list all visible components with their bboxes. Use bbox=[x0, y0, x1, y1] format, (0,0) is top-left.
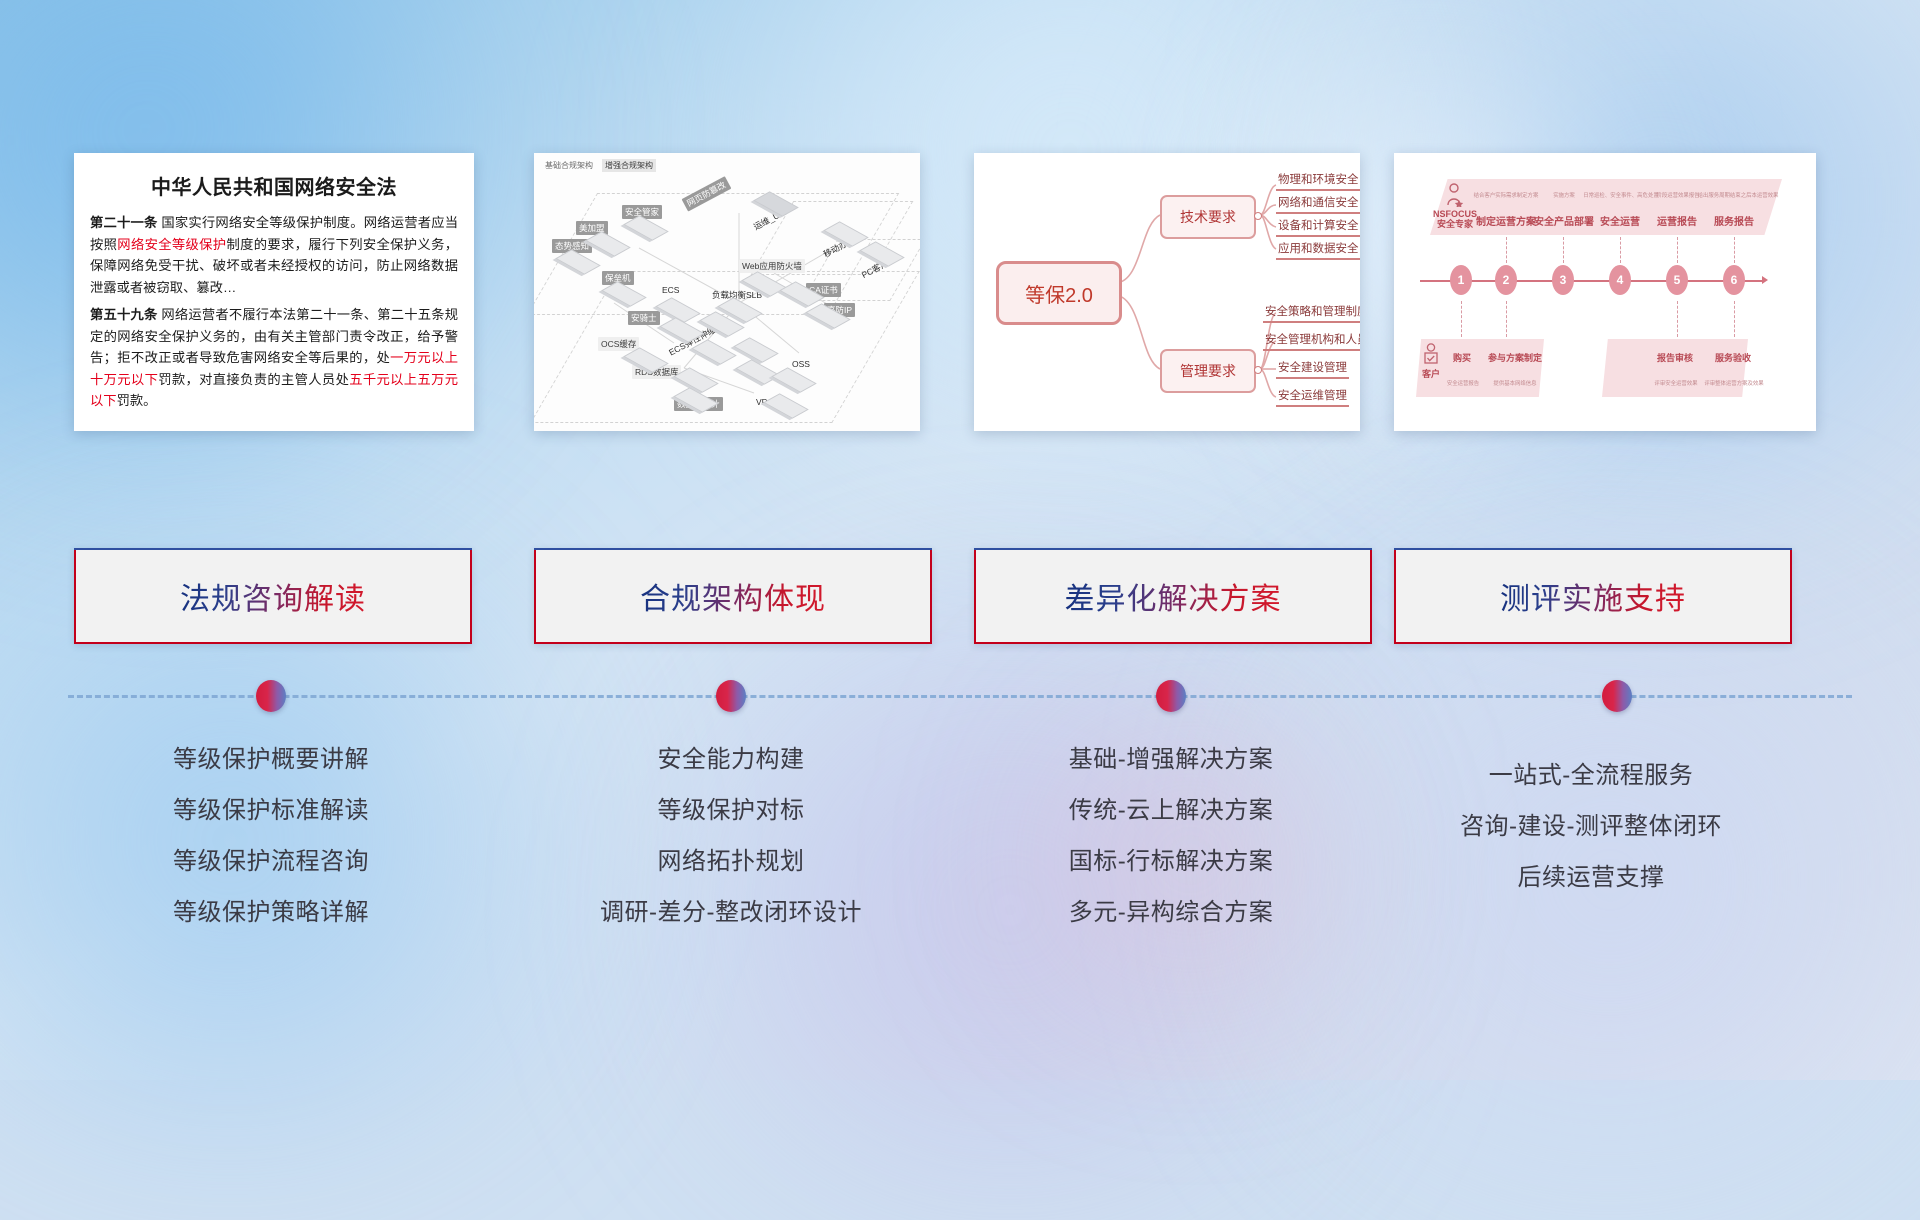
mindmap-leaf: 网络和通信安全 bbox=[1276, 194, 1360, 214]
title-box-differentiated-solution[interactable]: 差异化解决方案 bbox=[974, 548, 1372, 644]
bullet-item: 调研-差分-整改闭环设计 bbox=[534, 901, 928, 925]
timeline-dashed-line bbox=[68, 695, 1852, 698]
timeline-node[interactable]: 6 bbox=[1723, 265, 1745, 295]
bullet-item: 网络拓扑规划 bbox=[534, 850, 928, 874]
title-label: 差异化解决方案 bbox=[1065, 574, 1282, 618]
timeline-top-label: 安全产品部署 bbox=[1530, 213, 1598, 228]
timeline-top-label: 服务报告 bbox=[1706, 213, 1762, 228]
timeline-top-label: 安全运营 bbox=[1590, 213, 1650, 228]
timeline-bottom-sub: 提供基本网络信息 bbox=[1482, 379, 1548, 387]
arch-label-waf: Web应用防火墙 bbox=[739, 259, 805, 273]
law-title: 中华人民共和国网络安全法 bbox=[90, 171, 458, 200]
arch-node-icon bbox=[623, 347, 668, 372]
timeline-dot-2[interactable] bbox=[716, 680, 746, 712]
timeline-dot-4[interactable] bbox=[1602, 680, 1632, 712]
arch-node-icon bbox=[673, 367, 718, 392]
law-article-59-seg-4: 罚款。 bbox=[117, 393, 157, 408]
arch-node-icon bbox=[623, 215, 668, 240]
bullet-item: 后续运营支撑 bbox=[1394, 866, 1788, 890]
title-box-assessment-support[interactable]: 测评实施支持 bbox=[1394, 548, 1792, 644]
title-box-regulation-consulting[interactable]: 法规咨询解读 bbox=[74, 548, 472, 644]
timeline-role-expert-line1: NSFOCUS bbox=[1433, 209, 1477, 219]
card-cybersecurity-law[interactable]: 中华人民共和国网络安全法 第二十一条 国家实行网络安全等级保护制度。网络运营者应… bbox=[74, 153, 474, 431]
arch-node-icon bbox=[763, 393, 808, 418]
bullet-item: 等级保护策略详解 bbox=[74, 901, 468, 925]
timeline-bottom-sub: 安全运营报告 bbox=[1438, 379, 1488, 387]
arch-node-icon bbox=[659, 317, 704, 342]
timeline-connector bbox=[1461, 301, 1462, 337]
bullet-item: 等级保护概要讲解 bbox=[74, 748, 468, 772]
arch-node-icon bbox=[717, 297, 762, 322]
timeline-top-sub: 实施方案 bbox=[1540, 191, 1588, 199]
title-label: 法规咨询解读 bbox=[180, 574, 366, 618]
mindmap-leaf: 安全策略和管理制度 bbox=[1263, 303, 1360, 323]
title-label: 测评实施支持 bbox=[1500, 574, 1686, 618]
law-article-59: 第五十九条 网络运营者不履行本法第二十一条、第二十五条规定的网络安全保护义务的，… bbox=[90, 304, 458, 412]
customer-icon bbox=[1422, 343, 1440, 365]
timeline-dot-1[interactable] bbox=[256, 680, 286, 712]
bullet-item: 等级保护标准解读 bbox=[74, 799, 468, 823]
law-article-21-label: 第二十一条 bbox=[90, 215, 157, 230]
arch-node-icon bbox=[733, 337, 778, 362]
law-body: 中华人民共和国网络安全法 第二十一条 国家实行网络安全等级保护制度。网络运营者应… bbox=[74, 153, 474, 431]
arch-node-icon bbox=[771, 367, 816, 392]
bullet-item: 国标-行标解决方案 bbox=[974, 850, 1368, 874]
bullet-column-differentiated-solution: 基础-增强解决方案 传统-云上解决方案 国标-行标解决方案 多元-异构综合方案 bbox=[974, 748, 1368, 952]
arch-node-icon bbox=[735, 359, 780, 384]
card-compliance-architecture[interactable]: 基础合规架构 增强合规架构 网页防篡改 安全管家 bbox=[534, 153, 920, 431]
mindmap-root: 等保2.0 bbox=[996, 261, 1122, 325]
mindmap: 等保2.0 技术要求 物理和环境安全 网络和通信安全 设备和计算安全 应用和数据… bbox=[974, 153, 1360, 431]
law-article-21-seg-1: 网络安全等级保护 bbox=[117, 237, 226, 252]
arch-node-icon bbox=[691, 339, 736, 364]
mindmap-leaf: 物理和环境安全 bbox=[1276, 171, 1360, 191]
timeline-top-sub: 结合客户实际需求制定方案 bbox=[1470, 191, 1542, 199]
timeline-connector bbox=[1677, 237, 1678, 263]
timeline-band-customer-right bbox=[1602, 339, 1748, 397]
arch-node-icon bbox=[779, 281, 824, 306]
timeline-connector bbox=[1506, 301, 1507, 337]
mindmap-leaf: 安全建设管理 bbox=[1276, 359, 1349, 379]
arch-node-icon bbox=[753, 191, 798, 216]
law-article-59-seg-2: 罚款，对直接负责的主管人员处 bbox=[158, 372, 349, 387]
arch-node-icon bbox=[741, 271, 786, 296]
timeline-node[interactable]: 1 bbox=[1450, 265, 1472, 295]
bullet-item: 一站式-全流程服务 bbox=[1394, 764, 1788, 788]
arch-node-icon bbox=[673, 387, 718, 412]
arch-label-ocs-cache: OCS缓存 bbox=[598, 337, 639, 351]
title-label: 合规架构体现 bbox=[640, 574, 826, 618]
timeline-connector bbox=[1563, 237, 1564, 263]
timeline-connector bbox=[1677, 301, 1678, 337]
timeline-bottom-label: 服务验收 bbox=[1702, 351, 1764, 364]
arch-node-icon bbox=[823, 221, 868, 246]
bullet-item: 安全能力构建 bbox=[534, 748, 928, 772]
title-box-compliance-architecture[interactable]: 合规架构体现 bbox=[534, 548, 932, 644]
law-article-21: 第二十一条 国家实行网络安全等级保护制度。网络运营者应当按照网络安全等级保护制度… bbox=[90, 212, 458, 298]
mindmap-collapse-icon[interactable] bbox=[1254, 366, 1262, 374]
law-article-59-label: 第五十九条 bbox=[90, 307, 157, 322]
mindmap-collapse-icon[interactable] bbox=[1254, 212, 1262, 220]
architecture-diagram: 基础合规架构 增强合规架构 网页防篡改 安全管家 bbox=[534, 153, 920, 431]
timeline-bottom-sub: 评审整体运营方案及效果 bbox=[1696, 379, 1772, 387]
timeline-connector bbox=[1620, 237, 1621, 263]
timeline-top-label: 运营报告 bbox=[1648, 213, 1706, 228]
bullet-item: 多元-异构综合方案 bbox=[974, 901, 1368, 925]
mindmap-leaf: 设备和计算安全 bbox=[1276, 217, 1360, 237]
timeline-node[interactable]: 4 bbox=[1609, 265, 1631, 295]
bullet-item: 基础-增强解决方案 bbox=[974, 748, 1368, 772]
arch-label-anqishi: 安骑士 bbox=[628, 311, 660, 325]
timeline-node[interactable]: 5 bbox=[1666, 265, 1688, 295]
timeline-role-expert-line2: 安全专家 bbox=[1437, 219, 1473, 229]
bullet-column-assessment-support: 一站式-全流程服务 咨询-建设-测评整体闭环 后续运营支撑 bbox=[1394, 764, 1788, 917]
timeline-node[interactable]: 2 bbox=[1495, 265, 1517, 295]
arch-node-icon bbox=[601, 281, 646, 306]
timeline-bottom-label: 参与方案制定 bbox=[1484, 351, 1546, 364]
bullet-item: 等级保护流程咨询 bbox=[74, 850, 468, 874]
mindmap-branch-technical: 技术要求 bbox=[1160, 195, 1256, 239]
mindmap-branch-management: 管理要求 bbox=[1160, 349, 1256, 393]
mindmap-leaf: 安全运维管理 bbox=[1276, 387, 1349, 407]
timeline-top-sub: 给出服务周期结束之后本运营效果 bbox=[1694, 191, 1782, 199]
card-mindmap-dengbao[interactable]: 等保2.0 技术要求 物理和环境安全 网络和通信安全 设备和计算安全 应用和数据… bbox=[974, 153, 1360, 431]
arch-node-icon bbox=[805, 303, 850, 328]
mindmap-leaf: 应用和数据安全 bbox=[1276, 240, 1360, 260]
bullet-item: 咨询-建设-测评整体闭环 bbox=[1394, 815, 1788, 839]
bullet-item: 传统-云上解决方案 bbox=[974, 799, 1368, 823]
bullet-column-compliance-architecture: 安全能力构建 等级保护对标 网络拓扑规划 调研-差分-整改闭环设计 bbox=[534, 748, 928, 952]
nsfocus-timeline: NSFOCUS 安全专家 客户 1 购买 安全运营报告 2 结合客户实际需求制定… bbox=[1394, 153, 1816, 431]
arch-node-icon bbox=[555, 249, 600, 274]
arch-label-ecs: ECS bbox=[662, 285, 679, 295]
timeline-connector bbox=[1734, 237, 1735, 263]
timeline-dot-3[interactable] bbox=[1156, 680, 1186, 712]
timeline-connector bbox=[1506, 237, 1507, 263]
timeline-bottom-label: 报告审核 bbox=[1644, 351, 1706, 364]
timeline-connector bbox=[1734, 301, 1735, 337]
arch-node-icon bbox=[859, 241, 904, 266]
security-expert-icon bbox=[1444, 183, 1464, 207]
mindmap-leaf: 安全管理机构和人员 bbox=[1263, 331, 1360, 351]
bullet-column-regulation-consulting: 等级保护概要讲解 等级保护标准解读 等级保护流程咨询 等级保护策略详解 bbox=[74, 748, 468, 952]
timeline-node[interactable]: 3 bbox=[1552, 265, 1574, 295]
bullet-item: 等级保护对标 bbox=[534, 799, 928, 823]
timeline-bottom-label: 购买 bbox=[1442, 351, 1482, 364]
arch-label-oss: OSS bbox=[792, 359, 810, 369]
slide-canvas: 中华人民共和国网络安全法 第二十一条 国家实行网络安全等级保护制度。网络运营者应… bbox=[0, 0, 1920, 1080]
timeline-arrow-icon bbox=[1762, 276, 1768, 284]
card-nsfocus-timeline[interactable]: NSFOCUS 安全专家 客户 1 购买 安全运营报告 2 结合客户实际需求制定… bbox=[1394, 153, 1816, 431]
